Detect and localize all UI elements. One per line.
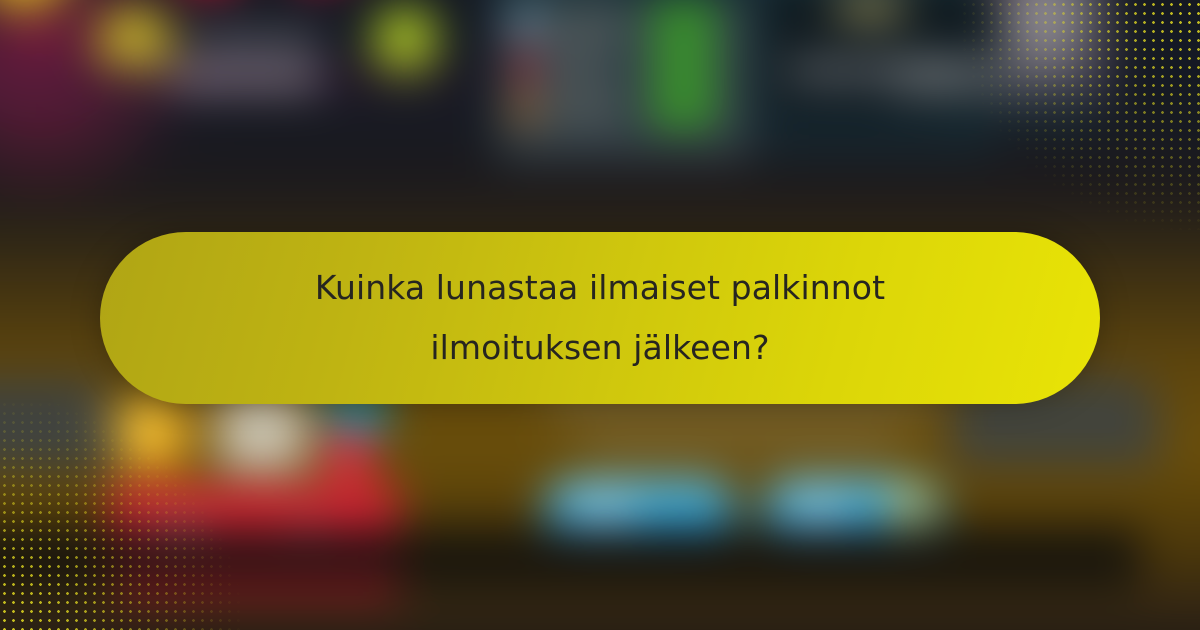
list-row-label-1 <box>552 16 622 26</box>
right-dark-bar <box>895 58 1015 98</box>
body-paragraph-line-4 <box>590 444 890 457</box>
background-label-upper <box>190 32 320 50</box>
list-row-label-2 <box>552 60 604 70</box>
background-label-lower <box>170 68 320 88</box>
list-row-claim-button-1 <box>652 6 716 36</box>
title-banner: Kuinka lunastaa ilmaiset palkinnot ilmoi… <box>100 232 1100 404</box>
list-row-claim-button-2 <box>652 50 716 80</box>
floor-shadow <box>0 526 1140 586</box>
game-primary-button-label <box>572 502 634 518</box>
left-dark-furniture <box>0 380 120 470</box>
list-row-icon-blue <box>512 8 538 34</box>
right-white-card <box>1000 0 1110 100</box>
game-secondary-button-label <box>790 502 846 518</box>
body-paragraph-line-3 <box>560 416 920 429</box>
reward-red-ball <box>322 428 378 484</box>
right-pill-badge <box>835 0 905 18</box>
list-row-icon-red <box>512 52 538 78</box>
reward-white-box <box>218 392 306 472</box>
page-title: Kuinka lunastaa ilmaiset palkinnot ilmoi… <box>230 258 970 378</box>
list-row-label-3 <box>552 104 616 114</box>
hero-card: Kuinka lunastaa ilmaiset palkinnot ilmoi… <box>0 0 1200 630</box>
coin-icon <box>892 492 926 526</box>
list-row-icon-orange <box>512 96 538 122</box>
list-row-claim-button-3 <box>652 94 716 124</box>
